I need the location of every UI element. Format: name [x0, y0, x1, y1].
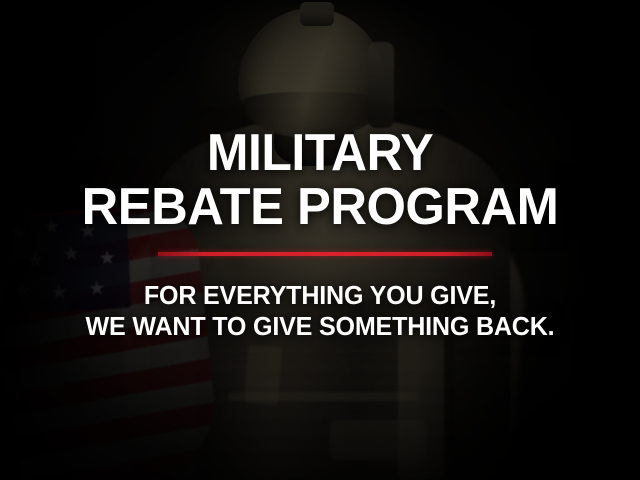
military-rebate-banner: ★ ★ ★ ★ ★ ★ ★ ★ ★ MILITARY REBATE PROGRA… — [0, 0, 640, 480]
subheadline-line-2: WE WANT TO GIVE SOMETHING BACK. — [11, 313, 629, 339]
red-divider-rule — [158, 252, 492, 256]
headline-line-1: MILITARY — [13, 129, 627, 178]
subheadline-line-1: FOR EVERYTHING YOU GIVE, — [11, 282, 629, 308]
text-overlay: MILITARY REBATE PROGRAM FOR EVERYTHING Y… — [0, 0, 640, 480]
headline-line-2: REBATE PROGRAM — [8, 183, 632, 232]
